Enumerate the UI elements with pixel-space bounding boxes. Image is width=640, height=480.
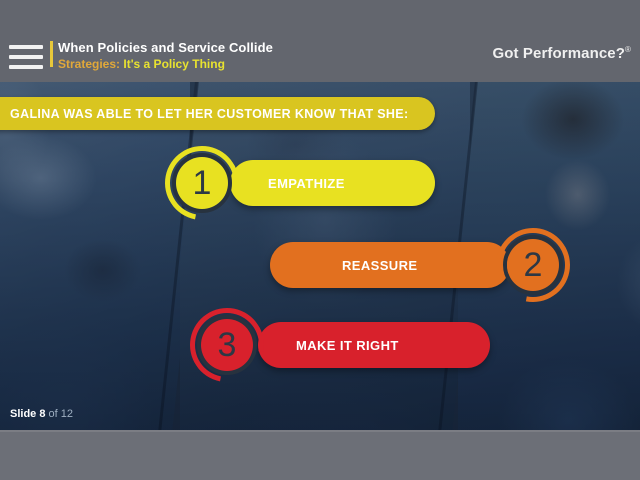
- step-bar-3: MAKE IT RIGHT: [258, 322, 490, 368]
- step-bar-2: REASSURE: [270, 242, 510, 288]
- app-header: When Policies and Service Collide Strate…: [0, 0, 640, 82]
- footer-top-edge: [0, 430, 640, 432]
- step-number-3: 3: [218, 328, 237, 362]
- step-badge-3: 3: [190, 308, 264, 382]
- step-label-2: REASSURE: [342, 258, 417, 273]
- course-title-block: When Policies and Service Collide Strate…: [58, 40, 273, 72]
- headline-text: GALINA WAS ABLE TO LET HER CUSTOMER KNOW…: [10, 107, 409, 121]
- step-item-2[interactable]: REASSURE 2: [270, 242, 570, 288]
- step-label-1: EMPATHIZE: [268, 176, 345, 191]
- slide-counter: Slide 8 of 12: [10, 408, 73, 420]
- step-bar-1: EMPATHIZE: [230, 160, 435, 206]
- slide-canvas: GALINA WAS ABLE TO LET HER CUSTOMER KNOW…: [0, 82, 640, 430]
- brand-logo: Got Performance?®: [493, 45, 631, 62]
- title-divider: [50, 41, 53, 67]
- step-badge-disc-2: 2: [507, 239, 559, 291]
- course-subtitle-emphasis: It's a Policy Thing: [123, 57, 225, 71]
- course-subtitle-prefix: Strategies:: [58, 57, 123, 71]
- step-number-1: 1: [193, 166, 212, 200]
- hamburger-menu-icon[interactable]: [9, 45, 43, 69]
- step-badge-disc-1: 1: [176, 157, 228, 209]
- course-title: When Policies and Service Collide: [58, 40, 273, 55]
- step-badge-disc-3: 3: [201, 319, 253, 371]
- slide-counter-current: Slide 8: [10, 408, 45, 420]
- headline-banner: GALINA WAS ABLE TO LET HER CUSTOMER KNOW…: [0, 97, 435, 130]
- step-badge-2: 2: [496, 228, 570, 302]
- slide-counter-total: of 12: [45, 408, 73, 420]
- step-item-3[interactable]: MAKE IT RIGHT 3: [190, 322, 495, 368]
- brand-logo-text: Got Performance?: [493, 45, 625, 62]
- hamburger-bar-2: [9, 55, 43, 59]
- presentation-viewer: When Policies and Service Collide Strate…: [0, 0, 640, 480]
- hamburger-bar-1: [9, 45, 43, 49]
- course-subtitle: Strategies: It's a Policy Thing: [58, 57, 273, 72]
- app-footer: [0, 430, 640, 480]
- step-badge-1: 1: [165, 146, 239, 220]
- step-item-1[interactable]: EMPATHIZE 1: [165, 160, 435, 206]
- registered-trademark-icon: ®: [625, 45, 631, 54]
- step-label-3: MAKE IT RIGHT: [296, 338, 399, 353]
- hamburger-bar-3: [9, 65, 43, 69]
- step-number-2: 2: [524, 248, 543, 282]
